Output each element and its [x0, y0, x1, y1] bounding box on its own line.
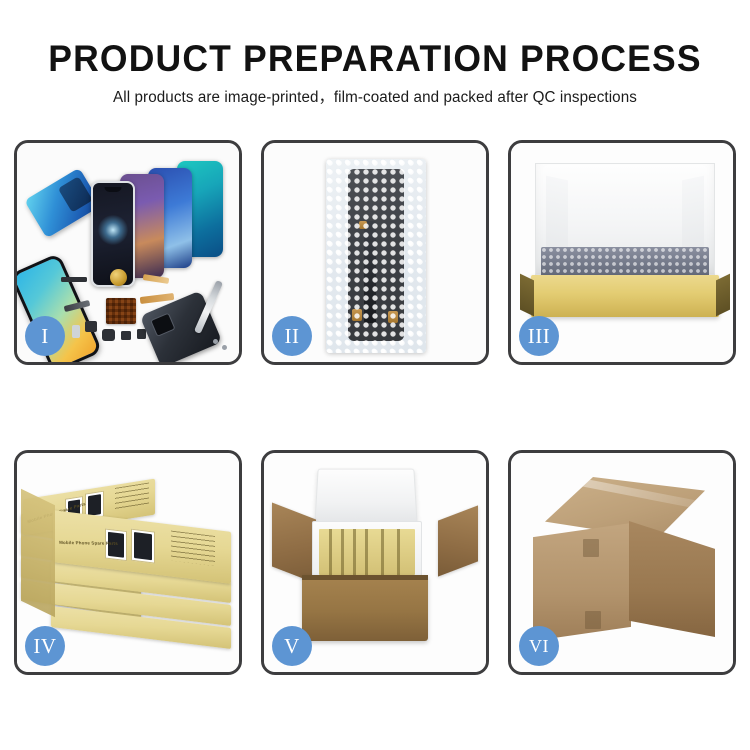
small-part-3	[102, 329, 115, 341]
bubble-wrap-bag	[326, 159, 426, 353]
step-1-image: I	[17, 143, 239, 362]
process-grid: I II	[14, 140, 736, 700]
page-title: PRODUCT PREPARATION PROCESS	[15, 40, 735, 77]
step-3-image: III	[511, 143, 733, 362]
page-subtitle: All products are image-printed，film-coat…	[8, 88, 743, 107]
screw-1	[213, 339, 218, 344]
foam-box-lid	[314, 469, 418, 528]
process-step-5: V	[261, 450, 489, 675]
header: PRODUCT PREPARATION PROCESS All products…	[0, 0, 750, 120]
small-part-4	[121, 331, 131, 340]
step-badge-3: III	[519, 316, 559, 356]
chip-grid-icon	[106, 298, 136, 324]
kraft-boxes-inside	[319, 529, 415, 575]
small-part-2	[85, 321, 97, 332]
process-step-6: VI	[508, 450, 736, 675]
step-5-image: V	[264, 453, 486, 672]
screw-2	[222, 345, 227, 350]
small-part-6	[72, 325, 80, 338]
sealed-carton	[533, 477, 717, 649]
carton-side-face	[629, 521, 715, 637]
step-badge-5: V	[272, 626, 312, 666]
box-label-front: Mobile Phone Spare Parts	[59, 540, 118, 546]
infographic-page: PRODUCT PREPARATION PROCESS All products…	[0, 0, 750, 750]
box-art-thumb-4	[131, 529, 155, 564]
carton-body	[302, 575, 428, 641]
small-part-1	[61, 277, 87, 282]
box-text-block-top	[115, 482, 149, 511]
small-part-5	[137, 329, 146, 339]
process-step-3: III	[508, 140, 736, 365]
process-step-4: Mobile Phone Spare Parts Mobile Phone Sp…	[14, 450, 242, 675]
step-4-image: Mobile Phone Spare Parts Mobile Phone Sp…	[17, 453, 239, 672]
step-6-image: VI	[511, 453, 733, 672]
step-2-image: II	[264, 143, 486, 362]
process-step-2: II	[261, 140, 489, 365]
process-step-1: I	[14, 140, 242, 365]
carton-front-face	[533, 523, 631, 641]
coin-part-icon	[110, 269, 127, 286]
box-text-block-front	[171, 531, 215, 566]
step-badge-2: II	[272, 316, 312, 356]
step-badge-4: IV	[25, 626, 65, 666]
stack-side-face	[21, 489, 55, 618]
step-badge-1: I	[25, 316, 65, 356]
step-badge-6: VI	[519, 626, 559, 666]
kraft-box-open	[531, 275, 719, 317]
